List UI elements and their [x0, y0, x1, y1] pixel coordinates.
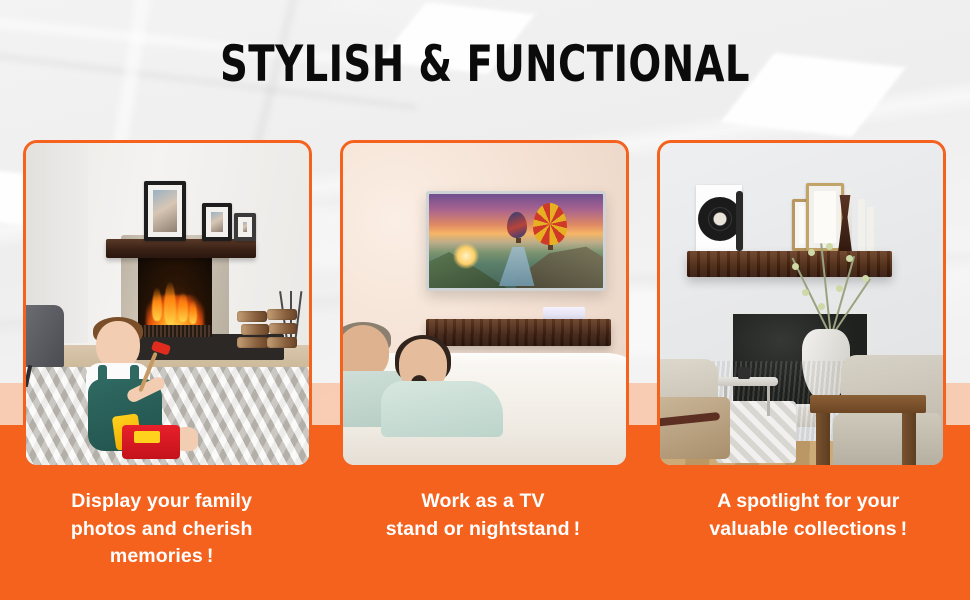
feature-card-family-photos[interactable]	[23, 140, 312, 468]
firewood-log	[237, 311, 267, 322]
child-foot	[178, 427, 198, 451]
photo-image	[211, 212, 223, 232]
firewood-log	[269, 323, 297, 334]
firewood-log	[241, 324, 269, 335]
woman-figure	[385, 335, 495, 439]
scene-living-room-shelf-decor	[660, 143, 943, 465]
toy-truck-window	[134, 431, 160, 443]
branch-leaf	[802, 289, 809, 296]
wall-mounted-tv	[426, 191, 606, 291]
branch-leaf	[818, 303, 825, 310]
firewood-log	[267, 337, 297, 348]
firewood-log	[237, 337, 269, 348]
framed-family-photo	[234, 213, 256, 241]
woman-shirt	[381, 381, 503, 437]
photo-image	[243, 222, 247, 232]
flame	[178, 292, 188, 322]
caption-tv-stand: Work as a TV stand or nightstand !	[321, 488, 644, 568]
promo-banner: STYLISH & FUNCTIONAL	[0, 0, 970, 600]
dried-branch-arrangement	[778, 241, 882, 337]
framed-family-photo	[144, 181, 186, 241]
wooden-coffee-table	[810, 395, 926, 413]
caption-row: Display your family photos and cherish m…	[0, 488, 970, 568]
branch-stem	[830, 256, 855, 337]
firewood-log	[267, 309, 297, 320]
stacked-firewood	[237, 307, 299, 355]
hot-air-balloon	[533, 203, 567, 245]
caption-collections-spotlight: A spotlight for your valuable collection…	[647, 488, 970, 568]
branch-leaf	[862, 275, 869, 282]
scene-couple-watching-tv	[343, 143, 626, 465]
hot-air-balloon	[507, 212, 527, 238]
frame-art	[814, 191, 836, 243]
feature-card-row	[23, 140, 947, 468]
framed-family-photo	[202, 203, 232, 241]
ceiling-light-panel	[322, 0, 475, 26]
dark-cup	[738, 367, 750, 379]
caption-family-photos: Display your family photos and cherish m…	[0, 488, 323, 568]
wood-mantel-shelf	[106, 239, 256, 258]
photo-image	[153, 190, 177, 232]
scene-child-by-fireplace	[26, 143, 309, 465]
flame	[152, 287, 162, 321]
branch-stem	[820, 243, 832, 337]
record-player-tonearm	[736, 191, 743, 251]
branch-leaf	[826, 243, 833, 250]
sun	[453, 243, 479, 269]
feature-card-tv-stand[interactable]	[340, 140, 629, 468]
branch-leaf	[836, 285, 843, 292]
wood-frame-armchair	[660, 359, 734, 465]
child-head	[96, 321, 140, 369]
toy-truck	[122, 411, 180, 459]
page-title: STYLISH & FUNCTIONAL	[68, 38, 902, 91]
feature-card-collections-spotlight[interactable]	[657, 140, 946, 468]
branch-leaf	[808, 249, 815, 256]
gray-armchair	[26, 305, 64, 367]
tv-screen-image	[429, 194, 603, 288]
draped-throw-blanket	[660, 397, 730, 459]
branch-leaf	[792, 263, 799, 270]
branch-leaf	[846, 255, 853, 262]
flame	[164, 281, 176, 325]
